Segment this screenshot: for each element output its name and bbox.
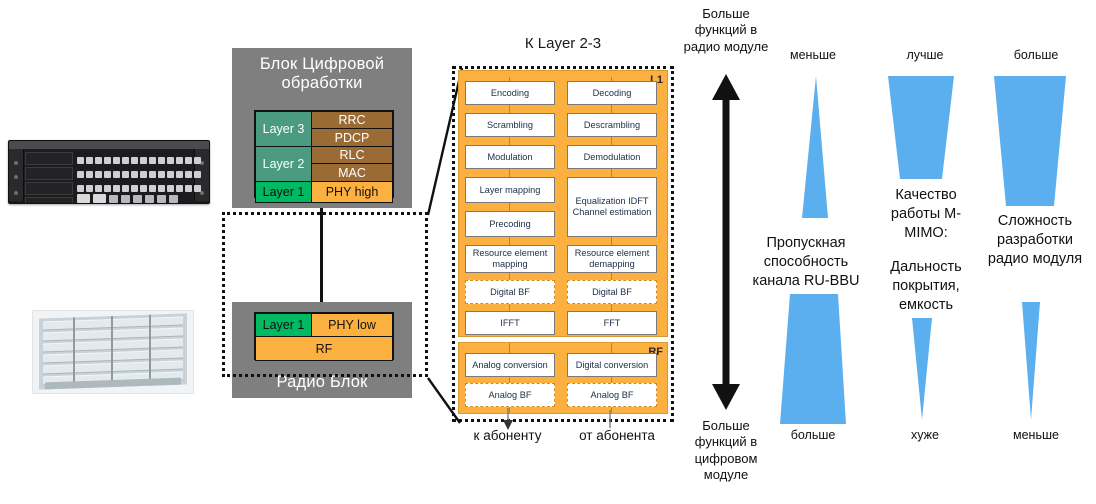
cell-digital-conversion: Digital conversion (567, 353, 657, 377)
cell-layer-mapping: Layer mapping (465, 177, 555, 203)
digital-processing-unit-block: Блок Цифровой обработки Layer 3 RRC PDCP… (232, 48, 412, 208)
rf-panel: RF Analog conversion Analog BF Digital c… (458, 342, 668, 414)
metric-throughput-bottom-triangle (768, 294, 858, 426)
cell-analog-conversion: Analog conversion (465, 353, 555, 377)
server-appliance-photo (8, 140, 210, 204)
metric-throughput-top-label: меньше (770, 48, 856, 62)
axis-top-label: Больше функций в радио модуле (680, 6, 772, 55)
cell-equalization-idft-channel-estimation: Equalization IDFT Channel estimation (567, 177, 657, 237)
cell-digital-bf-uplink: Digital BF (567, 280, 657, 304)
cell-encoding: Encoding (465, 81, 555, 105)
metric-complexity-top-triangle (988, 76, 1084, 208)
cell-analog-bf-downlink: Analog BF (465, 383, 555, 407)
cell-scrambling: Scrambling (465, 113, 555, 137)
cell-modulation: Modulation (465, 145, 555, 169)
bbu-rlc-cell: RLC (311, 146, 393, 164)
bbu-rrc-cell: RRC (311, 111, 393, 129)
cell-digital-bf-downlink: Digital BF (465, 280, 555, 304)
cell-precoding: Precoding (465, 211, 555, 237)
functional-split-region (222, 212, 428, 377)
bbu-layer-2-cell: Layer 2 (255, 146, 312, 182)
bbu-phy-high-cell: PHY high (311, 181, 393, 203)
cell-decoding: Decoding (567, 81, 657, 105)
metric-complexity-bottom-triangle (1010, 302, 1060, 422)
bbu-layer-grid: Layer 3 RRC PDCP Layer 2 RLC MAC Layer 1… (254, 110, 394, 198)
cell-analog-bf-uplink: Analog BF (567, 383, 657, 407)
bbu-title: Блок Цифровой обработки (238, 55, 406, 94)
downlink-direction-label: к абоненту (455, 428, 560, 443)
cell-demodulation: Demodulation (567, 145, 657, 169)
cell-fft: FFT (567, 311, 657, 335)
diagram-canvas: Блок Цифровой обработки Layer 3 RRC PDCP… (0, 0, 1096, 504)
metric-throughput-bottom-label: больше (770, 428, 856, 442)
metric-complexity-bottom-label: меньше (992, 428, 1080, 442)
metric-mimo-bottom-triangle (900, 318, 950, 422)
l1-panel: L1 Encoding Scrambling Modulation Layer … (458, 70, 668, 337)
cell-resource-element-mapping: Resource element mapping (465, 245, 555, 273)
bbu-layer-1-cell: Layer 1 (255, 181, 312, 203)
metric-throughput-top-triangle (778, 76, 848, 221)
bbu-pdcp-cell: PDCP (311, 128, 393, 147)
bbu-layer-3-cell: Layer 3 (255, 111, 312, 147)
cell-ifft: IFFT (465, 311, 555, 335)
axis-bottom-label: Больше функций в цифровом модуле (680, 418, 772, 483)
cell-resource-element-demapping: Resource element demapping (567, 245, 657, 273)
functional-split-axis-arrow (706, 74, 746, 410)
metric-mimo-caption: Качество работы M-MIMO: (874, 186, 978, 243)
bbu-mac-cell: MAC (311, 163, 393, 182)
metric-throughput-caption: Пропускная способность канала RU-BBU (752, 234, 860, 291)
metric-mimo-top-label: лучше (882, 48, 968, 62)
metric-complexity-top-label: больше (992, 48, 1080, 62)
phy-chain-diagram: L1 Encoding Scrambling Modulation Layer … (452, 66, 674, 422)
metric-complexity-caption: Сложность разработки радио модуля (982, 212, 1088, 269)
cell-descrambling: Descrambling (567, 113, 657, 137)
metric-mimo-top-triangle (880, 76, 970, 181)
metric-mimo-caption-2: Дальность покрытия, емкость (874, 258, 978, 315)
metric-mimo-bottom-label: хуже (882, 428, 968, 442)
massive-mimo-antenna-photo (32, 310, 194, 394)
uplink-direction-label: от абонента (562, 428, 672, 443)
chain-title: К Layer 2-3 (452, 35, 674, 52)
